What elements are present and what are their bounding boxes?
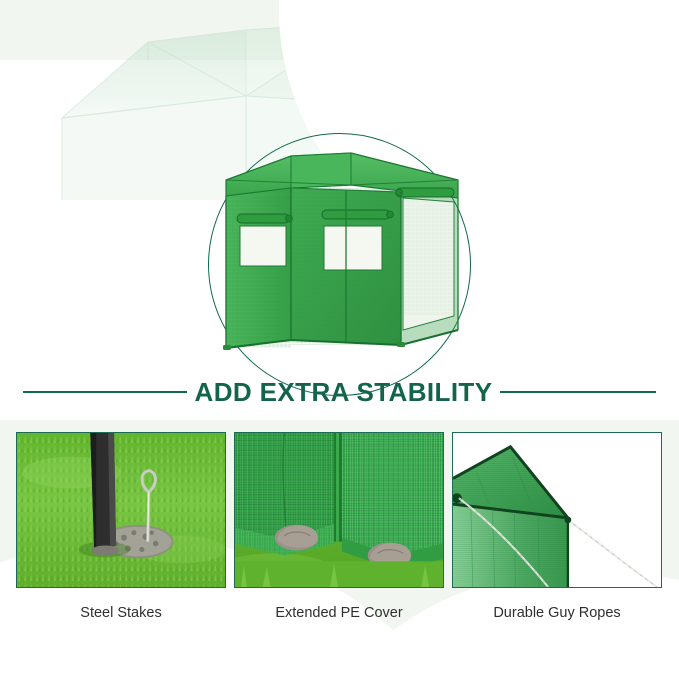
heading-rule-right (500, 391, 656, 394)
caption-steel-stakes: Steel Stakes (16, 600, 226, 626)
caption-durable-guy-ropes: Durable Guy Ropes (452, 600, 662, 626)
feature-image-extended-pe-cover (234, 432, 444, 588)
feature-caption-row: Steel Stakes Extended PE Cover Durable G… (16, 600, 664, 626)
section-heading: ADD EXTRA STABILITY (0, 372, 679, 412)
product-infographic: ADD EXTRA STABILITY (0, 0, 679, 679)
feature-image-durable-guy-ropes (452, 432, 662, 588)
walk-in-greenhouse (196, 140, 486, 365)
feature-image-steel-stakes (16, 432, 226, 588)
feature-panel-row (16, 432, 664, 588)
caption-extended-pe-cover: Extended PE Cover (234, 600, 444, 626)
heading-rule-left (23, 391, 187, 394)
page-title: ADD EXTRA STABILITY (195, 379, 493, 405)
